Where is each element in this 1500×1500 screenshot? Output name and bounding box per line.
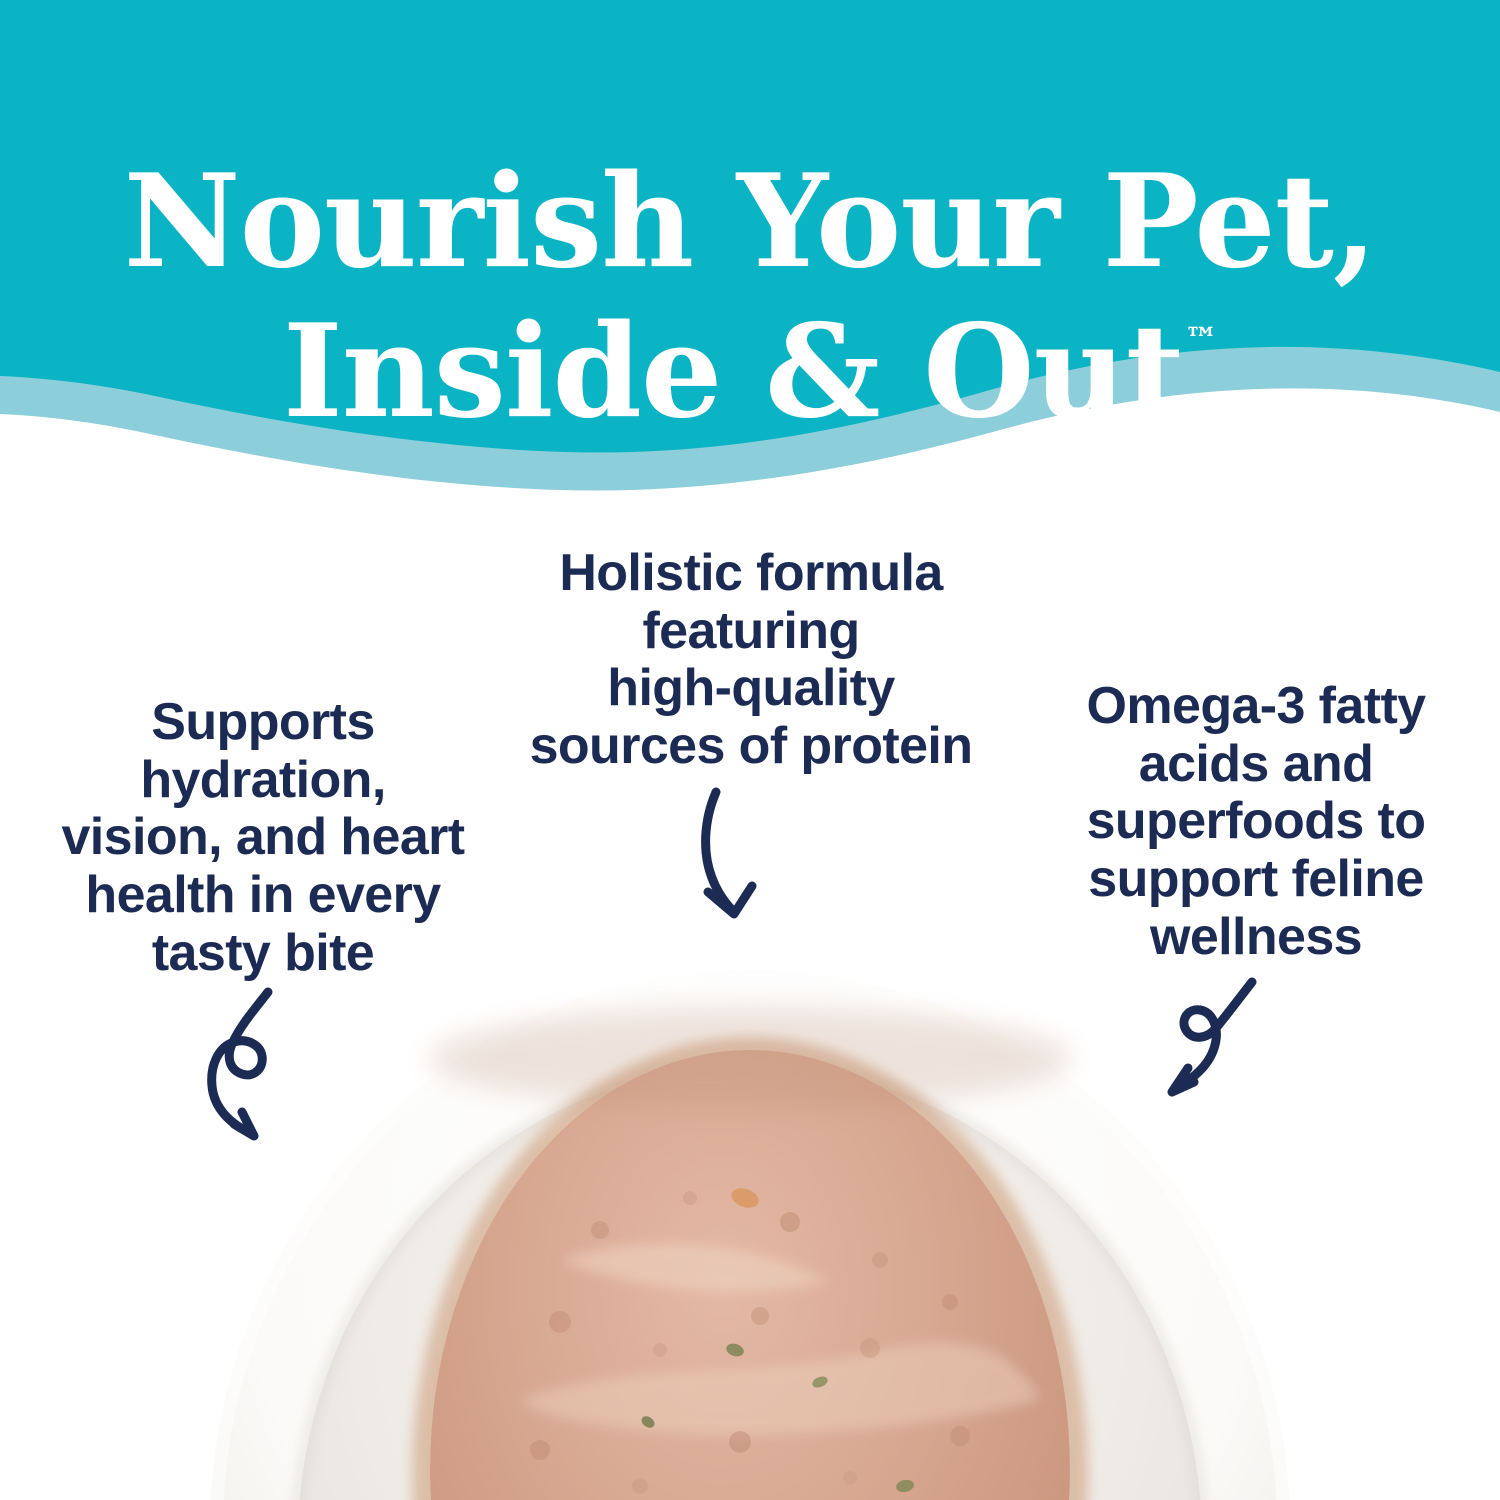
callout-center-line-2: featuring — [495, 603, 1007, 661]
promo-infographic: Nourish Your Pet, Inside & Out™ — [0, 0, 1500, 1500]
callout-left-line-3: vision, and heart — [18, 809, 508, 867]
food-rim-shadow — [428, 1006, 1072, 1110]
callout-center-line-1: Holistic formula — [495, 545, 1007, 603]
callout-left-line-1: Supports — [18, 694, 508, 752]
callout-right-line-1: Omega-3 fatty — [1020, 678, 1492, 736]
callout-left-line-2: hydration, — [18, 752, 508, 810]
callout-right-line-5: wellness — [1020, 909, 1492, 967]
callout-omega-3-superfoods: Omega-3 fatty acids and superfoods to su… — [1020, 678, 1492, 967]
bowl-illustration — [0, 930, 1500, 1500]
callout-center-line-3: high-quality — [495, 660, 1007, 718]
callout-right-line-2: acids and — [1020, 736, 1492, 794]
curved-arrow-down-icon — [668, 786, 798, 926]
callout-right-line-3: superfoods to — [1020, 793, 1492, 851]
callout-left-line-4: health in every — [18, 867, 508, 925]
callout-left-line-5: tasty bite — [18, 925, 508, 983]
callout-center-line-4: sources of protein — [495, 718, 1007, 776]
wave-shape-group — [0, 0, 1500, 500]
callout-supports-hydration: Supports hydration, vision, and heart he… — [18, 694, 508, 983]
product-photo — [0, 930, 1500, 1500]
callout-right-line-4: support feline — [1020, 851, 1492, 909]
callout-holistic-formula: Holistic formula featuring high-quality … — [495, 545, 1007, 776]
teal-header-banner: Nourish Your Pet, Inside & Out™ — [0, 0, 1500, 500]
